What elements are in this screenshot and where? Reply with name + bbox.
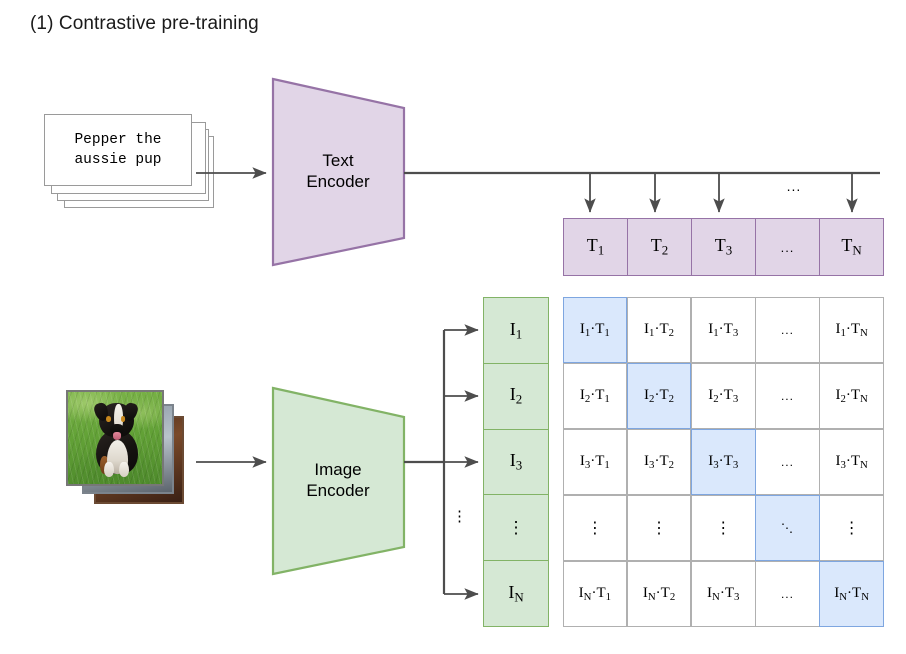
similarity-matrix: I1·T1I1·T2I1·T3...I1·TNI2·T1I2·T2I2·T3..… <box>563 297 884 627</box>
text-caption: Pepper the aussie pup <box>74 130 161 170</box>
matrix-cell-r2-c4: ... <box>755 363 820 430</box>
text-encoder-block[interactable]: Text Encoder <box>270 76 406 268</box>
text-caption-line-2: aussie pup <box>74 152 161 168</box>
text-encoder-label-line-2: Encoder <box>306 172 369 193</box>
matrix-cell-r2-c3: I2·T3 <box>691 363 756 430</box>
matrix-cell-r3-c5: I3·TN <box>819 429 884 496</box>
image-input-photo-stack <box>66 390 190 506</box>
matrix-cell-r4-c2: ⋮ <box>627 495 692 562</box>
text-bus-ellipsis: ... <box>776 178 812 194</box>
image-bus-ellipsis: ⋮ <box>452 507 466 525</box>
text-caption-line-1: Pepper the <box>74 132 161 148</box>
matrix-cell-r2-c1: I2·T1 <box>563 363 628 430</box>
matrix-cell-r2-c5: I2·TN <box>819 363 884 430</box>
image-embedding-cell-1: I1 <box>483 297 549 364</box>
matrix-cell-r1-c5: I1·TN <box>819 297 884 364</box>
image-encoder-label-line-2: Encoder <box>306 481 369 502</box>
matrix-cell-r2-c2: I2·T2 <box>627 363 692 430</box>
text-embedding-cell-ellipsis: ... <box>755 218 820 276</box>
text-embedding-cell-1: T1 <box>563 218 628 276</box>
text-embedding-cell-n: TN <box>819 218 884 276</box>
matrix-cell-r1-c4: ... <box>755 297 820 364</box>
matrix-cell-r5-c2: IN·T2 <box>627 561 692 628</box>
image-encoder-block[interactable]: Image Encoder <box>270 385 406 577</box>
image-embedding-cell-n: IN <box>483 560 549 627</box>
image-embedding-cell-2: I2 <box>483 363 549 430</box>
image-embedding-column: I1I2I3⋮IN <box>483 297 549 627</box>
text-embedding-cell-2: T2 <box>627 218 692 276</box>
text-embedding-cell-3: T3 <box>691 218 756 276</box>
image-encoder-label: Image Encoder <box>306 460 369 501</box>
matrix-cell-r1-c2: I1·T2 <box>627 297 692 364</box>
text-input-card-stack: Pepper the aussie pup <box>44 114 234 212</box>
matrix-cell-r5-c4: ... <box>755 561 820 628</box>
text-embedding-row: T1T2T3...TN <box>563 218 884 276</box>
image-embedding-cell-ellipsis: ⋮ <box>483 494 549 561</box>
page-title: (1) Contrastive pre-training <box>30 13 259 35</box>
matrix-cell-r5-c1: IN·T1 <box>563 561 628 628</box>
text-card-front: Pepper the aussie pup <box>44 114 192 186</box>
image-encoder-label-line-1: Image <box>306 460 369 481</box>
matrix-cell-r3-c3: I3·T3 <box>691 429 756 496</box>
puppy-paw-right <box>119 462 129 477</box>
matrix-cell-r4-c3: ⋮ <box>691 495 756 562</box>
matrix-cell-r4-c5: ⋮ <box>819 495 884 562</box>
matrix-cell-r4-c4: ⋱ <box>755 495 820 562</box>
matrix-cell-r5-c5: IN·TN <box>819 561 884 628</box>
matrix-cell-r3-c4: ... <box>755 429 820 496</box>
puppy-paw-left <box>105 462 115 477</box>
puppy-illustration <box>87 401 145 476</box>
image-embedding-cell-3: I3 <box>483 429 549 496</box>
matrix-cell-r5-c3: IN·T3 <box>691 561 756 628</box>
matrix-cell-r1-c3: I1·T3 <box>691 297 756 364</box>
matrix-cell-r1-c1: I1·T1 <box>563 297 628 364</box>
photo-front-puppy <box>66 390 164 486</box>
text-encoder-label: Text Encoder <box>306 151 369 192</box>
text-encoder-label-line-1: Text <box>306 151 369 172</box>
matrix-cell-r3-c2: I3·T2 <box>627 429 692 496</box>
matrix-cell-r3-c1: I3·T1 <box>563 429 628 496</box>
matrix-cell-r4-c1: ⋮ <box>563 495 628 562</box>
